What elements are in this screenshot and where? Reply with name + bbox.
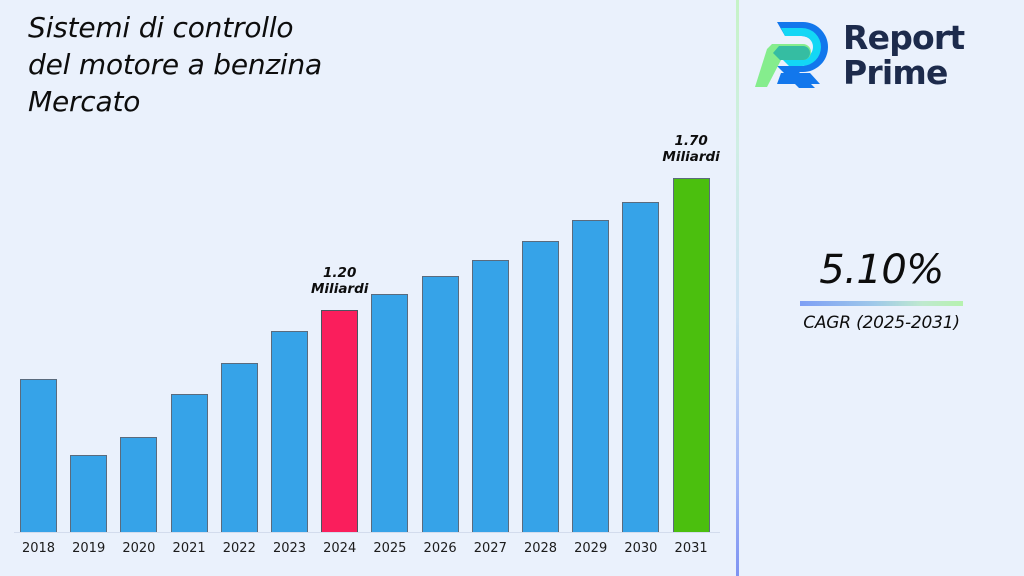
x-axis-label-2022: 2022 — [211, 541, 267, 556]
x-axis-label-2029: 2029 — [563, 541, 619, 556]
chart-baseline — [14, 532, 720, 533]
brand-panel: Report Prime 5.10% CAGR (2025-2031) — [739, 0, 1024, 576]
brand-name-line-1: Report — [843, 21, 964, 56]
x-axis-label-2026: 2026 — [412, 541, 468, 556]
x-axis-label-2021: 2021 — [161, 541, 217, 556]
cagr-label: CAGR (2025-2031) — [739, 313, 1024, 333]
brand-wordmark: Report Prime — [843, 21, 964, 91]
cagr-value: 5.10% — [739, 248, 1024, 292]
bar-2024[interactable] — [321, 310, 358, 532]
bar-2030[interactable] — [622, 202, 659, 532]
x-axis-label-2019: 2019 — [61, 541, 117, 556]
x-axis-label-2024: 2024 — [312, 541, 368, 556]
x-axis-label-2027: 2027 — [462, 541, 518, 556]
bar-2028[interactable] — [522, 241, 559, 532]
report-prime-logo-icon — [755, 17, 833, 95]
cagr-divider-rule — [800, 301, 963, 306]
x-axis-label-2025: 2025 — [362, 541, 418, 556]
bar-2020[interactable] — [120, 437, 157, 532]
bar-2021[interactable] — [171, 394, 208, 532]
bar-2031[interactable] — [673, 178, 710, 532]
bar-2018[interactable] — [20, 379, 57, 532]
bar-value-label-2024: 1.20 Miliardi — [295, 266, 385, 298]
chart-panel: Sistemi di controllo del motore a benzin… — [0, 0, 737, 576]
bar-2025[interactable] — [371, 294, 408, 532]
brand-logo: Report Prime — [755, 14, 1017, 98]
bar-value-label-2031: 1.70 Miliardi — [646, 134, 736, 166]
bar-2019[interactable] — [70, 455, 107, 532]
bar-chart-plot: 2018201920202021202220231.20 Miliardi202… — [0, 0, 737, 576]
brand-name-line-2: Prime — [843, 56, 964, 91]
x-axis-label-2020: 2020 — [111, 541, 167, 556]
bar-2026[interactable] — [422, 276, 459, 532]
x-axis-label-2028: 2028 — [513, 541, 569, 556]
x-axis-label-2030: 2030 — [613, 541, 669, 556]
x-axis-label-2018: 2018 — [11, 541, 67, 556]
cagr-block: 5.10% CAGR (2025-2031) — [739, 248, 1024, 333]
infographic-root: Sistemi di controllo del motore a benzin… — [0, 0, 1024, 576]
bar-2027[interactable] — [472, 260, 509, 532]
bar-2023[interactable] — [271, 331, 308, 532]
bar-2022[interactable] — [221, 363, 258, 532]
bar-2029[interactable] — [572, 220, 609, 532]
x-axis-label-2031: 2031 — [663, 541, 719, 556]
x-axis-label-2023: 2023 — [262, 541, 318, 556]
